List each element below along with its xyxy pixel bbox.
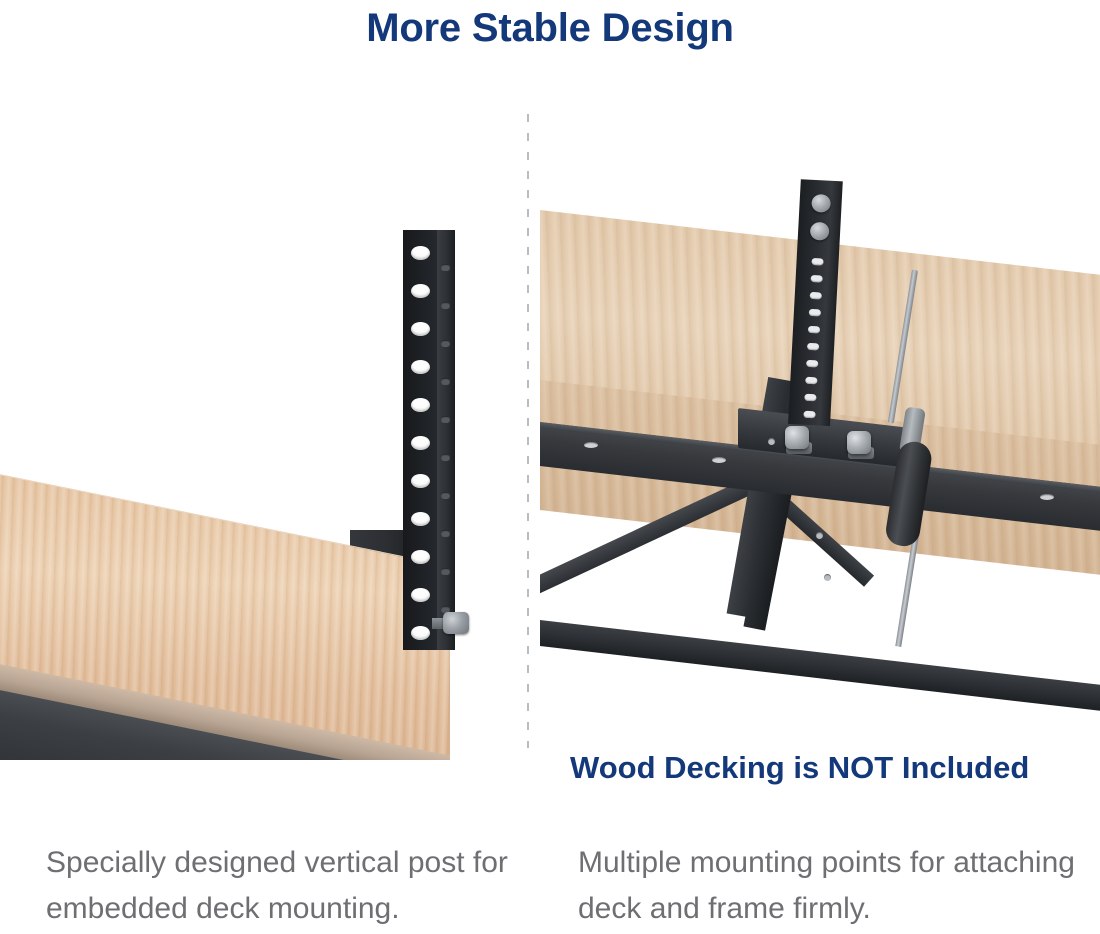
- vertical-dashed-divider-icon: [527, 114, 529, 748]
- post-side-face: [437, 230, 455, 650]
- right-caption: Multiple mounting points for attaching d…: [578, 840, 1088, 932]
- bracket-slot-icon: [810, 275, 822, 283]
- post-hole-icon: [411, 474, 430, 488]
- page-title: More Stable Design: [0, 2, 1100, 54]
- bracket-slot-icon: [807, 343, 819, 351]
- post-slot-icon: [441, 492, 450, 499]
- post-hole-icon: [411, 360, 430, 374]
- mount-screw-icon: [824, 574, 831, 581]
- hex-bolt-icon: [847, 431, 871, 454]
- mount-screw-icon: [768, 438, 775, 445]
- not-included-heading: Wood Decking is NOT Included: [570, 748, 1090, 788]
- post-slot-icon: [441, 454, 450, 461]
- rail-hole-icon: [712, 457, 726, 463]
- post-slot-icon: [441, 530, 450, 537]
- bracket-slot-icon: [805, 377, 817, 385]
- hex-bolt-icon: [443, 612, 469, 634]
- bracket-slot-icon: [809, 309, 821, 317]
- post-hole-icon: [411, 322, 430, 336]
- bracket-slot-icon: [806, 360, 818, 368]
- post-slot-icon: [441, 302, 450, 309]
- right-photo-canvas: [540, 150, 1100, 715]
- post-slot-icon: [441, 340, 450, 347]
- hex-bolt-icon: [810, 222, 830, 241]
- bottom-frame-rail: [540, 620, 1100, 711]
- post-hole-icon: [411, 626, 430, 640]
- rail-hole-icon: [1040, 494, 1054, 500]
- post-hole-icon: [411, 588, 430, 602]
- mount-screw-icon: [816, 532, 823, 539]
- bracket-slot-icon: [803, 411, 815, 419]
- bracket-slot-icon: [810, 292, 822, 300]
- bracket-slot-icon: [808, 326, 820, 334]
- post-hole-icon: [411, 398, 430, 412]
- post-slot-icon: [441, 568, 450, 575]
- hex-bolt-icon: [811, 194, 831, 213]
- hex-bolt-icon: [785, 426, 809, 449]
- post-hole-icon: [411, 550, 430, 564]
- product-feature-page: More Stable Design: [0, 0, 1100, 934]
- right-product-photo: [540, 150, 1100, 715]
- bracket-slot-icon: [811, 258, 823, 266]
- rail-hole-icon: [584, 442, 598, 448]
- left-product-photo: [0, 100, 505, 760]
- perforated-vertical-post: [403, 230, 455, 650]
- post-hole-icon: [411, 436, 430, 450]
- bracket-slot-icon: [804, 394, 816, 402]
- post-hole-icon: [411, 512, 430, 526]
- post-slot-icon: [441, 264, 450, 271]
- left-caption: Specially designed vertical post for emb…: [46, 840, 546, 932]
- post-hole-icon: [411, 246, 430, 260]
- left-photo-canvas: [0, 100, 505, 760]
- post-hole-icon: [411, 284, 430, 298]
- post-slot-icon: [441, 416, 450, 423]
- post-slot-icon: [441, 378, 450, 385]
